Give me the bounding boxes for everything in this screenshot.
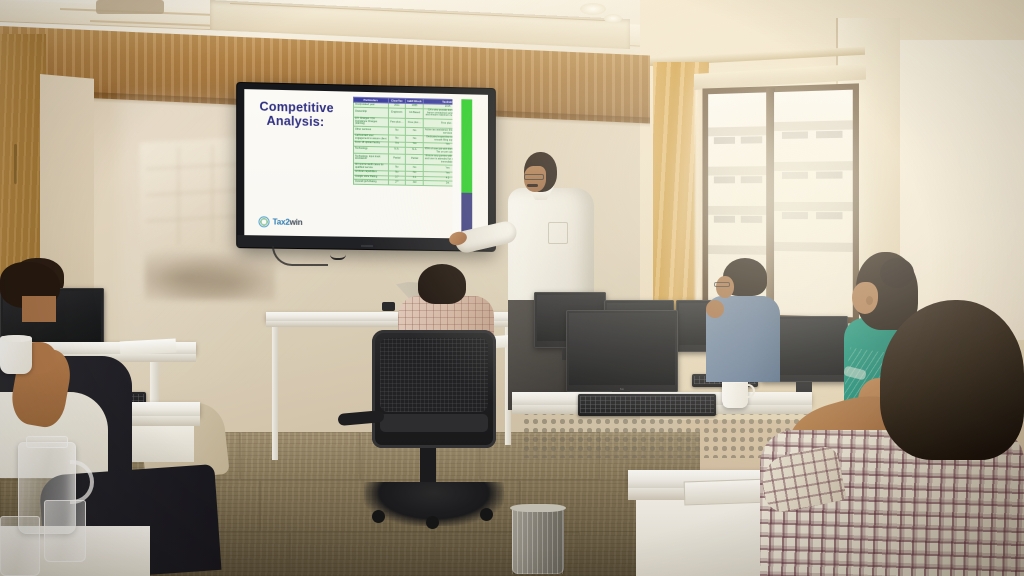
people-reflection: [145, 245, 275, 300]
ceiling-vent: [96, 0, 164, 14]
attendee-center-hair: [418, 264, 466, 304]
ceiling-light: [580, 3, 606, 15]
logo-text: Tax2win: [273, 217, 303, 227]
attendee-woman-ear: [866, 296, 873, 305]
drinking-glass[interactable]: [44, 500, 86, 562]
table-cell: Free plus ...: [388, 118, 406, 128]
table-cell: Free plus ...: [406, 118, 424, 128]
monitor-stand: [796, 382, 812, 392]
comparison-table: Particulars ClearTax H&R Block Tax2win I…: [353, 97, 472, 237]
desktop-monitor: hp: [566, 310, 678, 392]
papers: [120, 339, 177, 356]
desk-leg: [272, 327, 278, 460]
table-cell: 3rd: [406, 180, 424, 185]
chair-caster: [372, 510, 385, 523]
jug-neck: [26, 436, 68, 448]
drinking-glass[interactable]: [0, 516, 40, 576]
slide-title: Competitive Analysis:: [259, 100, 355, 130]
far-wall: [900, 40, 1024, 340]
table-cell: Partial: [406, 154, 424, 164]
desk-device: [382, 302, 395, 311]
table-cell: CA Based: [406, 108, 424, 118]
shirt-pocket: [548, 222, 568, 244]
presenter-mustache: [527, 184, 538, 187]
display-cables: [330, 246, 346, 260]
table-cell: Overall QoS Rating: [354, 179, 388, 184]
papers: [684, 479, 769, 506]
tax2win-logo: Tax2win: [258, 216, 302, 228]
glasses-icon: [524, 174, 544, 180]
chair-mesh-back: [380, 338, 488, 412]
chair-caster: [480, 508, 493, 521]
attendee-window-hand: [706, 300, 724, 318]
cabinet-handle[interactable]: [14, 144, 17, 184]
wall-mounted-display[interactable]: Competitive Analysis: Particulars ClearT…: [237, 83, 495, 251]
ceiling-light: [604, 14, 622, 23]
bin-rim: [510, 504, 566, 512]
chair-lumbar-support: [380, 414, 488, 432]
display-ir-sensor: [361, 245, 373, 247]
leaf-circle-icon: [258, 216, 269, 227]
cup-rim: [0, 335, 32, 342]
attendee-woman-hair-bun: [880, 258, 914, 288]
window-pane-right: [774, 90, 853, 318]
keyboard[interactable]: [578, 394, 716, 416]
chair-caster: [426, 516, 439, 529]
attendee-window-face: [716, 276, 734, 298]
attendee-woman-face: [852, 282, 878, 314]
attendee-front-right-hair: [880, 300, 1024, 460]
table-cell: 2**: [388, 180, 406, 185]
slide-title-line2: Analysis:: [259, 114, 355, 130]
glasses-icon: [714, 282, 730, 287]
chair-base: [364, 482, 504, 526]
waste-bin: [512, 508, 564, 574]
slide-green-accent-bar: [461, 99, 472, 193]
table-cell: Engineers: [388, 108, 406, 118]
presentation-slide: Competitive Analysis: Particulars ClearT…: [244, 89, 488, 239]
window-reflection-on-wall: [140, 137, 250, 253]
slide-white-gap: [452, 99, 461, 236]
attendee-front-left-neck: [22, 296, 56, 322]
meeting-room-photo: Competitive Analysis: Particulars ClearT…: [0, 0, 1024, 576]
table-cell: Partial: [388, 154, 406, 164]
table-cell: Technology, input track assistance: [354, 153, 388, 164]
